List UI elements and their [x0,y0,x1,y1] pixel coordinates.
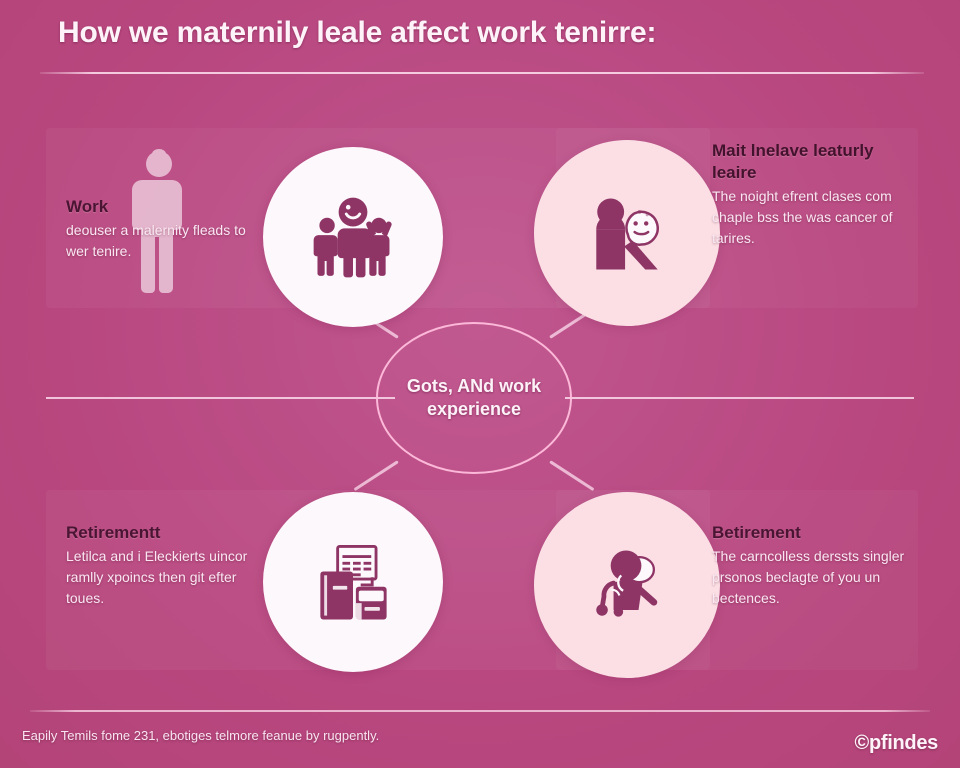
center-hub[interactable]: Gots, ANd work experience [376,322,572,474]
quadrant-body-top-right: The noight efrent clases com chaple bss … [712,186,917,248]
connector-bottom-left [354,460,399,491]
title-divider [40,72,924,74]
quadrant-heading-bottom-right: Betirement [712,522,922,544]
icon-circle-bottom-left[interactable] [263,492,443,672]
books-briefcase-icon [305,534,401,630]
parent-baby-icon [579,185,675,281]
quadrant-heading-bottom-left: Retirementt [66,522,276,544]
icon-circle-top-right[interactable] [534,140,720,326]
quadrant-heading-top-left: Work [66,196,271,218]
quadrant-text-top-right: Mait lnelave leaturly leaire The noight … [712,140,917,248]
icon-circle-bottom-right[interactable] [534,492,720,678]
person-working-icon [579,537,675,633]
brand-logo: ©pfindes [855,732,938,755]
quadrant-text-bottom-left: Retirementt Letilca and i Eleckierts uin… [66,522,276,608]
footer-note: Eapily Temils fome 231, ebotiges telmore… [22,728,379,743]
center-divider-left [46,397,395,399]
quadrant-heading-top-right: Mait lnelave leaturly leaire [712,140,917,184]
quadrant-text-top-left: Work deouser a malernity fleads to wer t… [66,196,271,262]
quadrant-text-bottom-right: Betirement The carncolless derssts singl… [712,522,922,608]
quadrant-body-top-left: deouser a malernity fleads to wer tenire… [66,220,271,261]
center-hub-label: Gots, ANd work experience [378,375,570,421]
infographic-canvas: How we maternily leale affect work tenir… [0,0,960,768]
footer-divider [30,710,930,712]
quadrant-body-bottom-right: The carncolless derssts singler prsonos … [712,546,922,608]
family-icon [305,189,401,285]
center-divider-right [565,397,914,399]
icon-circle-top-left[interactable] [263,147,443,327]
page-title: How we maternily leale affect work tenir… [58,16,918,50]
connector-bottom-right [549,460,594,491]
quadrant-body-bottom-left: Letilca and i Eleckierts uincor ramlly x… [66,546,276,608]
